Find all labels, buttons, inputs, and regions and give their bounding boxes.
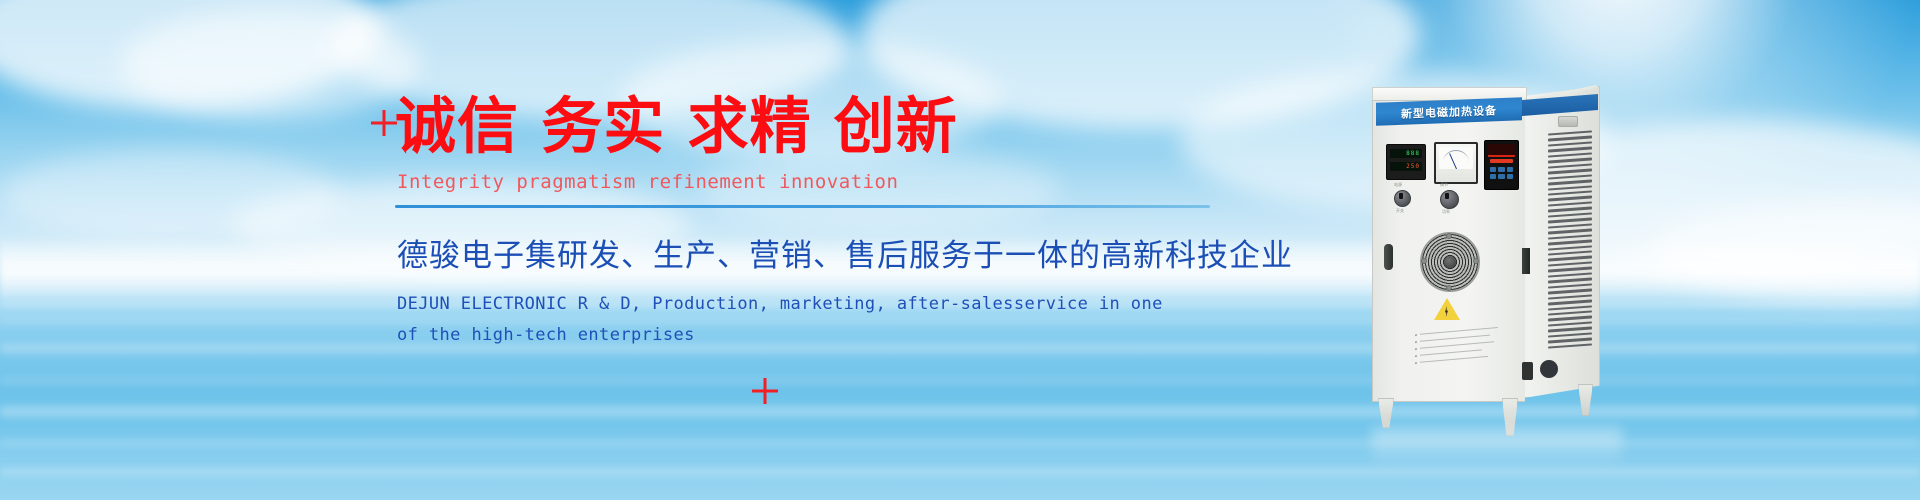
fan-screw <box>1473 258 1479 264</box>
knob-label-power-top: 电源 <box>1394 182 1402 188</box>
machine-reflection <box>1372 428 1622 468</box>
fan-screw <box>1421 258 1427 264</box>
water-streak <box>0 406 1920 417</box>
tagline-english-line-1: DEJUN ELECTRONIC R & D, Production, mark… <box>397 289 1275 320</box>
knob-label-adjust-top: 调节 <box>1440 182 1448 188</box>
bottom-connector-round <box>1540 360 1558 378</box>
adjust-knob[interactable] <box>1440 190 1459 209</box>
keypad-key[interactable] <box>1490 167 1497 172</box>
knob-label-power-bottom: 开关 <box>1396 208 1404 214</box>
knob-pointer <box>1445 193 1449 199</box>
knob-pointer <box>1399 193 1403 199</box>
digital-readout-secondary: 250 <box>1390 162 1422 171</box>
cloud-shape <box>0 150 340 240</box>
divider-line <box>395 205 1210 208</box>
fan-screw <box>1446 233 1452 239</box>
plus-decoration-icon <box>752 378 778 404</box>
machine-leg <box>1378 398 1394 428</box>
keypad-key[interactable] <box>1498 167 1505 172</box>
warning-high-voltage-icon <box>1434 298 1460 322</box>
water-streak <box>0 378 1920 383</box>
hero-banner: 诚信 务实 求精 创新 Integrity pragmatism refinem… <box>0 0 1920 500</box>
digital-controller-display[interactable]: 888 250 <box>1386 144 1426 180</box>
gauge-scale-arc <box>1443 150 1469 162</box>
product-image-heating-machine: 新型电磁加热设备 888 250 <box>1372 72 1622 432</box>
led-bar <box>1490 159 1513 163</box>
door-handle[interactable] <box>1384 244 1393 270</box>
keypad-buttons[interactable] <box>1490 167 1514 179</box>
water-streak <box>0 468 1920 476</box>
tagline-chinese: 德骏电子集研发、生产、营销、售后服务于一体的高新科技企业 <box>397 230 1275 275</box>
led-display <box>1488 144 1515 157</box>
machine-leg <box>1578 384 1593 416</box>
headline-slogan: 诚信 务实 求精 创新 <box>395 96 1275 157</box>
water-streak <box>0 440 1920 446</box>
ventilation-slots <box>1548 130 1592 348</box>
warning-triangle <box>1434 298 1460 320</box>
digital-readout-primary: 888 <box>1390 149 1422 158</box>
tagline-english-line-2: of the high-tech enterprises <box>397 320 1275 351</box>
keypad-key[interactable] <box>1507 167 1514 172</box>
tagline-english: DEJUN ELECTRONIC R & D, Production, mark… <box>397 289 1275 352</box>
power-knob[interactable] <box>1394 190 1411 207</box>
gauge-dial <box>1439 147 1473 169</box>
keypad-key[interactable] <box>1490 174 1497 179</box>
banner-copy: 诚信 务实 求精 创新 Integrity pragmatism refinem… <box>395 96 1275 352</box>
side-latch <box>1522 248 1530 274</box>
top-latch <box>1558 116 1578 127</box>
keypad-key[interactable] <box>1498 174 1505 179</box>
led-control-panel[interactable] <box>1484 140 1519 190</box>
fan-hub <box>1444 256 1456 268</box>
headline-subtitle-english: Integrity pragmatism refinement innovati… <box>397 171 1275 193</box>
knob-label-adjust-bottom: 功率 <box>1442 209 1450 215</box>
plus-decoration-icon <box>371 110 397 136</box>
cooling-fan-grille <box>1420 232 1480 292</box>
bottom-connector-port <box>1522 362 1533 380</box>
analog-ammeter-gauge <box>1434 142 1478 184</box>
keypad-key[interactable] <box>1507 174 1514 179</box>
fan-screw <box>1446 285 1452 291</box>
machine-brand-label-text: 新型电磁加热设备 <box>1401 102 1497 122</box>
